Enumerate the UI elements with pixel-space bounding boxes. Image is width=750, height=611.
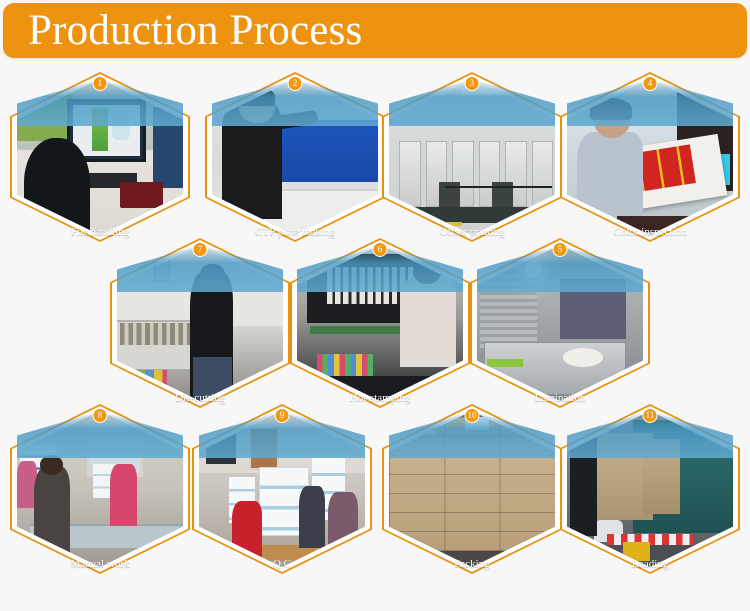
process-step-6[interactable]: 6 Hot-stamping [290, 238, 470, 408]
page-title: Production Process [28, 5, 362, 57]
process-step-5[interactable]: 5 Lamination [470, 238, 650, 408]
process-step-7[interactable]: 7 Die-cutting [110, 238, 290, 408]
step-number-badge: 11 [643, 408, 658, 423]
process-step-8[interactable]: 8 Manual work [10, 404, 190, 574]
step-number-badge: 1 [93, 76, 108, 91]
step-number-badge: 10 [465, 408, 480, 423]
process-step-11[interactable]: 11 Loading [560, 404, 740, 574]
step-number-badge: 3 [465, 76, 480, 91]
step-label: Manual work [10, 558, 190, 571]
process-step-3[interactable]: 3 Offset printing [382, 72, 562, 242]
production-process-infographic: Production Process 1 File handling [0, 0, 750, 611]
page-header-banner: Production Process [3, 3, 747, 58]
step-number-badge: 4 [643, 76, 658, 91]
step-label: Packing [382, 558, 562, 571]
process-step-9[interactable]: 9 Q C [192, 404, 372, 574]
process-step-1[interactable]: 1 File handling [10, 72, 190, 242]
process-step-4[interactable]: 4 Color inspection [560, 72, 740, 242]
step-number-badge: 6 [373, 242, 388, 257]
process-step-2[interactable]: 2 CTP plate making [205, 72, 385, 242]
step-number-badge: 2 [288, 76, 303, 91]
step-label: Loading [560, 558, 740, 571]
process-step-grid: 1 File handling 2 CTP plate making [0, 60, 750, 611]
step-number-badge: 5 [553, 242, 568, 257]
step-number-badge: 9 [275, 408, 290, 423]
step-number-badge: 8 [93, 408, 108, 423]
process-step-10[interactable]: 10 Packing [382, 404, 562, 574]
step-label: Q C [192, 558, 372, 571]
step-number-badge: 7 [193, 242, 208, 257]
